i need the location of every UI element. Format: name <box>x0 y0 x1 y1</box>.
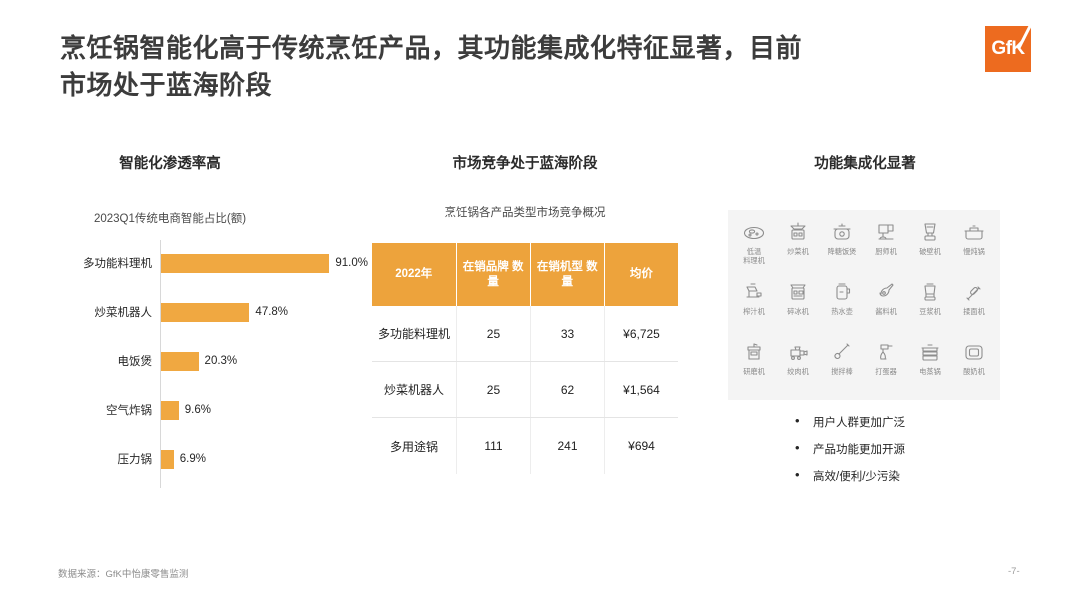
bullet-list: •用户人群更加广泛•产品功能更加开源•高效/便利/少污染 <box>795 414 1025 495</box>
icon-cell: 打蛋器 <box>864 336 908 396</box>
table-cell-models: 33 <box>531 306 605 361</box>
icon-caption: 搅拌棒 <box>831 367 853 376</box>
bar-value-label: 9.6% <box>185 395 211 425</box>
data-source-note: 数据来源：GfK中怡康零售监测 <box>58 566 188 580</box>
table-header-cell-brands: 在销品牌 数量 <box>457 243 531 306</box>
bar-row: 电饭煲20.3% <box>48 346 348 376</box>
bar-category-label: 多功能料理机 <box>48 248 152 278</box>
icon-caption: 碎冰机 <box>787 307 809 316</box>
table-cell-brands: 25 <box>457 306 531 361</box>
table-cell-price: ¥1,564 <box>605 362 678 417</box>
icon-caption: 厨师机 <box>875 247 897 256</box>
list-item: •高效/便利/少污染 <box>795 468 1025 484</box>
electric-kettle-icon <box>829 280 855 304</box>
high-speed-blender-icon <box>917 220 943 244</box>
icon-cell: 电蒸锅 <box>908 336 952 396</box>
icon-cell: 降糖饭煲 <box>820 216 864 276</box>
section-header-left: 智能化渗透率高 <box>0 152 340 173</box>
bar-value-label: 6.9% <box>180 444 206 474</box>
bar-fill <box>161 401 179 420</box>
icon-caption: 低温 料理机 <box>743 247 765 265</box>
table-header-cell-models: 在销机型 数量 <box>531 243 605 306</box>
juicer-icon <box>741 280 767 304</box>
icon-caption: 揉面机 <box>963 307 985 316</box>
table-cell-models: 241 <box>531 418 605 474</box>
list-item: •产品功能更加开源 <box>795 441 1025 457</box>
ice-crusher-icon <box>785 280 811 304</box>
icon-caption: 打蛋器 <box>875 367 897 376</box>
bullet-dot-icon: • <box>795 414 813 428</box>
title-line-1: 烹饪锅智能化高于传统烹饪产品，其功能集成化特征显著，目前 <box>60 30 950 67</box>
bar-value-label: 20.3% <box>205 346 238 376</box>
yogurt-maker-icon <box>961 340 987 364</box>
egg-beater-icon <box>873 340 899 364</box>
icon-cell: 厨师机 <box>864 216 908 276</box>
bar-fill <box>161 450 174 469</box>
table-cell-price: ¥6,725 <box>605 306 678 361</box>
icon-cell: 揉面机 <box>952 276 996 336</box>
icon-caption: 热水壶 <box>831 307 853 316</box>
icon-cell: 搅拌棒 <box>820 336 864 396</box>
bullet-text: 用户人群更加广泛 <box>813 414 905 430</box>
icon-cell: 绞肉机 <box>776 336 820 396</box>
table-subtitle: 烹饪锅各产品类型市场竞争概况 <box>370 204 680 220</box>
section-header-middle: 市场竞争处于蓝海阶段 <box>370 152 680 173</box>
table-cell-brands: 111 <box>457 418 531 474</box>
icon-cell: 破壁机 <box>908 216 952 276</box>
feature-icon-grid: 低温 料理机炒菜机降糖饭煲厨师机破壁机慢炖锅榨汁机碎冰机热水壶酱料机豆浆机揉面机… <box>728 210 1000 400</box>
table-header-cell-price: 均价 <box>605 243 678 306</box>
table-cell-models: 62 <box>531 362 605 417</box>
bar-row: 空气炸锅9.6% <box>48 395 348 425</box>
icon-cell: 研磨机 <box>732 336 776 396</box>
competition-table: 2022年 在销品牌 数量 在销机型 数量 均价 多功能料理机2533¥6,72… <box>372 243 678 474</box>
bar-fill <box>161 254 329 273</box>
grinder-icon <box>741 340 767 364</box>
sauce-maker-icon <box>873 280 899 304</box>
icon-caption: 榨汁机 <box>743 307 765 316</box>
icon-caption: 豆浆机 <box>919 307 941 316</box>
chart-subtitle: 2023Q1传统电商智能占比(额) <box>0 210 340 226</box>
section-header-right: 功能集成化显著 <box>715 152 1015 173</box>
icon-caption: 降糖饭煲 <box>828 247 857 256</box>
icon-caption: 电蒸锅 <box>919 367 941 376</box>
icon-cell: 豆浆机 <box>908 276 952 336</box>
table-cell-brands: 25 <box>457 362 531 417</box>
page-number: -7- <box>1008 566 1020 577</box>
slow-cooker-icon <box>961 220 987 244</box>
table-header-row: 2022年 在销品牌 数量 在销机型 数量 均价 <box>372 243 678 306</box>
title-line-2: 市场处于蓝海阶段 <box>60 67 950 104</box>
bar-value-label: 47.8% <box>255 297 288 327</box>
bar-fill <box>161 352 199 371</box>
table-header-cell-year: 2022年 <box>372 243 457 306</box>
bar-category-label: 炒菜机器人 <box>48 297 152 327</box>
icon-cell: 炒菜机 <box>776 216 820 276</box>
page-title: 烹饪锅智能化高于传统烹饪产品，其功能集成化特征显著，目前 市场处于蓝海阶段 <box>60 30 950 104</box>
table-row: 多用途锅111241¥694 <box>372 418 678 474</box>
icon-caption: 慢炖锅 <box>963 247 985 256</box>
gfk-logo: GfK <box>985 26 1031 72</box>
bar-value-label: 91.0% <box>335 248 368 278</box>
soy-milk-maker-icon <box>917 280 943 304</box>
bar-row: 压力锅6.9% <box>48 444 348 474</box>
bullet-dot-icon: • <box>795 441 813 455</box>
table-cell-product: 炒菜机器人 <box>372 362 457 417</box>
bar-category-label: 空气炸锅 <box>48 395 152 425</box>
table-cell-product: 多用途锅 <box>372 418 457 474</box>
penetration-bar-chart: 多功能料理机91.0%炒菜机器人47.8%电饭煲20.3%空气炸锅9.6%压力锅… <box>48 240 348 490</box>
list-item: •用户人群更加广泛 <box>795 414 1025 430</box>
sous-vide-cooker-icon <box>741 220 767 244</box>
slide-root: 烹饪锅智能化高于传统烹饪产品，其功能集成化特征显著，目前 市场处于蓝海阶段 Gf… <box>0 0 1080 608</box>
stir-fry-machine-icon <box>785 220 811 244</box>
icon-caption: 酸奶机 <box>963 367 985 376</box>
bullet-text: 高效/便利/少污染 <box>813 468 900 484</box>
icon-caption: 绞肉机 <box>787 367 809 376</box>
bar-category-label: 压力锅 <box>48 444 152 474</box>
mixing-stick-icon <box>829 340 855 364</box>
icon-cell: 热水壶 <box>820 276 864 336</box>
icon-cell: 榨汁机 <box>732 276 776 336</box>
table-row: 多功能料理机2533¥6,725 <box>372 306 678 362</box>
icon-cell: 慢炖锅 <box>952 216 996 276</box>
table-row: 炒菜机器人2562¥1,564 <box>372 362 678 418</box>
icon-cell: 碎冰机 <box>776 276 820 336</box>
table-cell-product: 多功能料理机 <box>372 306 457 361</box>
meat-grinder-icon <box>785 340 811 364</box>
icon-caption: 炒菜机 <box>787 247 809 256</box>
table-cell-price: ¥694 <box>605 418 678 474</box>
bullet-dot-icon: • <box>795 468 813 482</box>
dough-kneader-icon <box>961 280 987 304</box>
bar-fill <box>161 303 249 322</box>
bar-row: 多功能料理机91.0% <box>48 248 348 278</box>
header-brands-text: 在销品牌 数量 <box>459 260 528 289</box>
electric-steamer-icon <box>917 340 943 364</box>
low-sugar-rice-cooker-icon <box>829 220 855 244</box>
stand-mixer-icon <box>873 220 899 244</box>
icon-caption: 破壁机 <box>919 247 941 256</box>
icon-cell: 低温 料理机 <box>732 216 776 276</box>
icon-caption: 研磨机 <box>743 367 765 376</box>
gfk-logo-text: GfK <box>991 38 1024 60</box>
bullet-text: 产品功能更加开源 <box>813 441 905 457</box>
header-models-text: 在销机型 数量 <box>533 260 602 289</box>
icon-cell: 酸奶机 <box>952 336 996 396</box>
icon-caption: 酱料机 <box>875 307 897 316</box>
bar-category-label: 电饭煲 <box>48 346 152 376</box>
bar-row: 炒菜机器人47.8% <box>48 297 348 327</box>
icon-cell: 酱料机 <box>864 276 908 336</box>
